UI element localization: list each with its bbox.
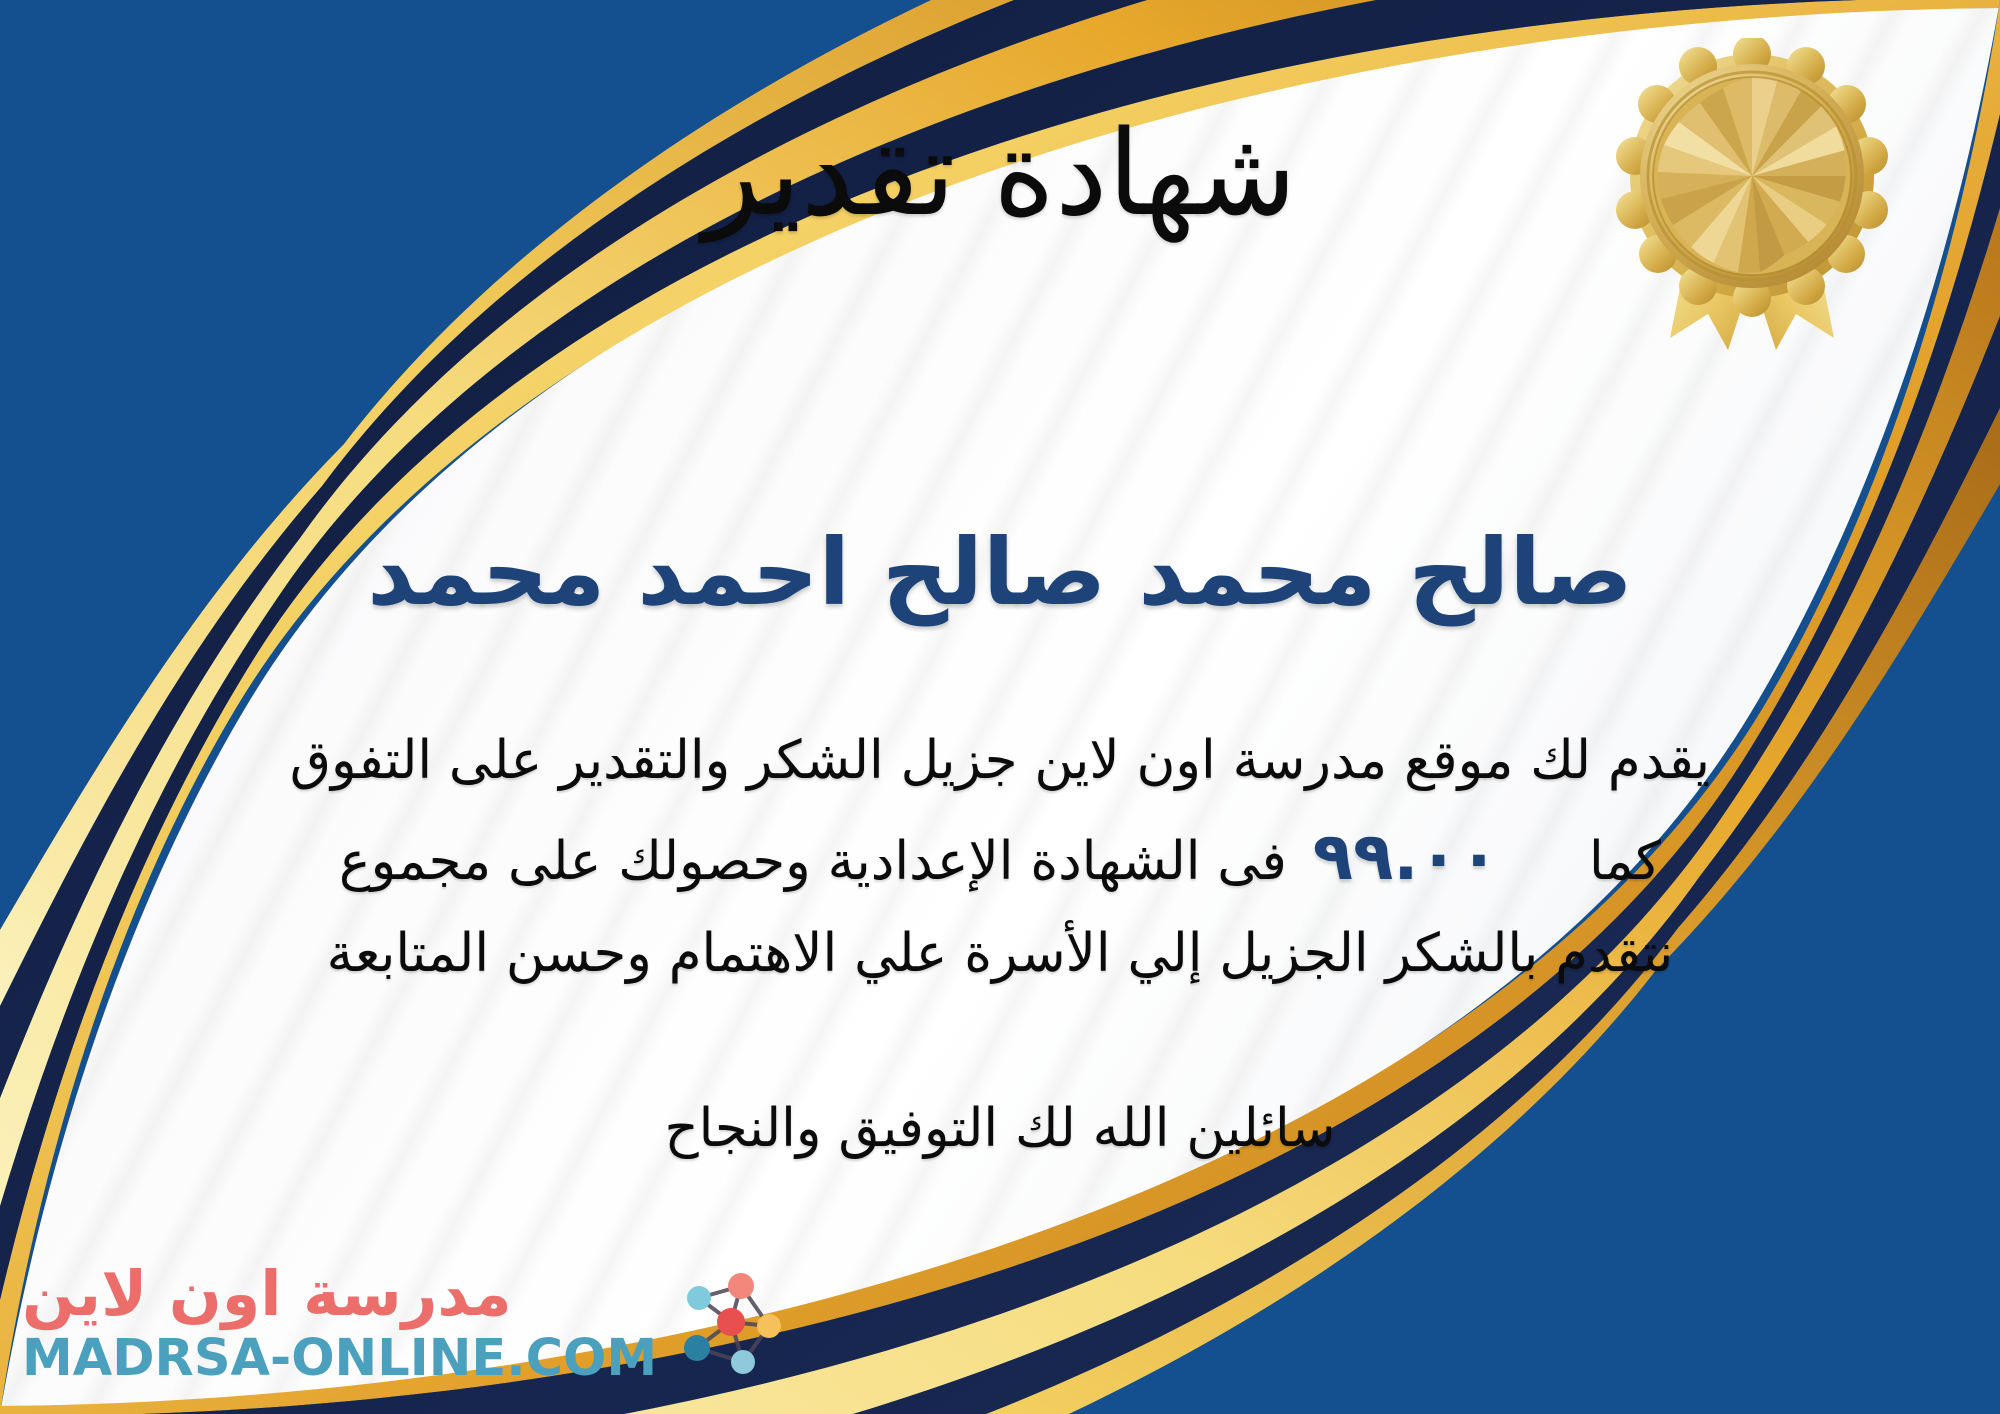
brand-text: مدرسة اون لاين MADRSA-ONLINE.COM [22,1263,657,1384]
network-nodes-icon [671,1264,791,1384]
certificate-canvas: شهادة تقدير صالح محمد صالح احمد محمد يقد… [0,0,2000,1414]
certificate-content: شهادة تقدير صالح محمد صالح احمد محمد يقد… [0,0,2000,1414]
body-line-2-before-score: فى الشهادة الإعدادية وحصولك على مجموع [339,819,1287,905]
brand-website[interactable]: MADRSA-ONLINE.COM [22,1333,657,1384]
body-line-2: كما ٩٩.٠٠ فى الشهادة الإعدادية وحصولك عل… [58,804,1942,911]
brand-logo[interactable]: مدرسة اون لاين MADRSA-ONLINE.COM [22,1263,791,1384]
body-line-2-after-score: كما [1563,819,1661,905]
body-line-3: نتقدم بالشكر الجزيل إلي الأسرة علي الاهت… [58,911,1942,997]
student-name: صالح محمد صالح احمد محمد [0,518,2000,628]
body-line-1: يقدم لك موقع مدرسة اون لاين جزيل الشكر و… [58,718,1942,804]
brand-arabic-name: مدرسة اون لاين [22,1263,512,1325]
page-title: شهادة تقدير [0,104,2000,243]
score-value: ٩٩.٠٠ [1287,804,1563,911]
certificate-body: يقدم لك موقع مدرسة اون لاين جزيل الشكر و… [58,718,1942,997]
closing-line: سائلين الله لك التوفيق والنجاح [0,1098,2000,1159]
